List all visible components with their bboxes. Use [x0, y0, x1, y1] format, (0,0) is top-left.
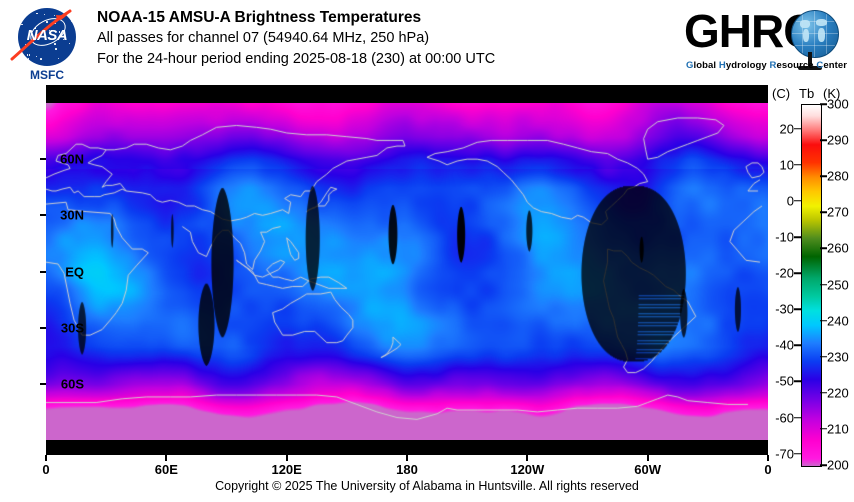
colorbar-kelvin-tick [820, 392, 827, 394]
x-axis-tick [406, 455, 408, 461]
colorbar-celsius-tick [794, 308, 801, 310]
y-axis-label: 60N [60, 152, 84, 167]
colorbar-celsius-label: -10 [775, 230, 794, 245]
colorbar-kelvin-tick [820, 320, 827, 322]
colorbar-celsius-tick [794, 345, 801, 347]
map-plot-area[interactable] [46, 85, 768, 455]
x-axis-tick [647, 455, 649, 461]
colorbar-kelvin-label: 200 [827, 458, 849, 473]
y-axis-tick [40, 214, 46, 216]
colorbar-kelvin-label: 210 [827, 421, 849, 436]
colorbar-celsius-tick [794, 381, 801, 383]
ghrc-tagline: Global Hydrology Resource Center [686, 60, 847, 71]
y-axis-label: EQ [65, 264, 84, 279]
x-axis-label: 120E [271, 462, 301, 477]
y-axis-label: 30N [60, 208, 84, 223]
colorbar-kelvin-tick [820, 212, 827, 214]
ghrc-logo: GHRC Global Hydrology Resource Center [684, 6, 850, 78]
colorbar-celsius-label: -20 [775, 266, 794, 281]
colorbar-kelvin-label: 300 [827, 97, 849, 112]
colorbar-celsius-label: -50 [775, 374, 794, 389]
colorbar-kelvin-tick [820, 356, 827, 358]
y-axis-tick [40, 158, 46, 160]
colorbar-kelvin-label: 250 [827, 277, 849, 292]
x-axis-tick [767, 455, 769, 461]
colorbar-celsius-header: (C) [772, 86, 790, 101]
colorbar-celsius-label: -70 [775, 446, 794, 461]
colorbar-gradient [802, 105, 821, 466]
x-axis-tick [45, 455, 47, 461]
colorbar-title: Tb [799, 86, 814, 101]
page-title: NOAA-15 AMSU-A Brightness Temperatures [97, 8, 495, 28]
brightness-temperature-map[interactable] [46, 103, 768, 440]
colorbar-kelvin-label: 230 [827, 349, 849, 364]
map-raster [46, 103, 768, 440]
y-axis-tick [40, 271, 46, 273]
colorbar-kelvin-tick [820, 284, 827, 286]
header-block: NOAA-15 AMSU-A Brightness Temperatures A… [97, 8, 495, 70]
channel-subtitle: All passes for channel 07 (54940.64 MHz,… [97, 28, 495, 49]
colorbar[interactable] [801, 104, 822, 467]
colorbar-celsius-tick [794, 236, 801, 238]
colorbar-kelvin-label: 270 [827, 205, 849, 220]
colorbar-celsius-tick [794, 128, 801, 130]
x-axis-label: 180 [396, 462, 418, 477]
colorbar-kelvin-label: 290 [827, 133, 849, 148]
nasa-logo: NASA MSFC [10, 6, 84, 84]
x-axis-label: 60E [155, 462, 178, 477]
colorbar-celsius-label: 20 [780, 121, 794, 136]
colorbar-celsius-tick [794, 200, 801, 202]
colorbar-celsius-tick [794, 453, 801, 455]
colorbar-kelvin-tick [820, 175, 827, 177]
colorbar-kelvin-tick [820, 464, 827, 466]
nasa-wordmark: NASA [18, 27, 76, 44]
colorbar-celsius-tick [794, 417, 801, 419]
x-axis-label: 0 [42, 462, 49, 477]
x-axis-tick [165, 455, 167, 461]
y-axis-label: 60S [61, 376, 84, 391]
colorbar-celsius-label: -40 [775, 338, 794, 353]
globe-icon [791, 10, 839, 58]
colorbar-kelvin-tick [820, 103, 827, 105]
y-axis-tick [40, 383, 46, 385]
colorbar-kelvin-label: 280 [827, 169, 849, 184]
x-axis-label: 0 [764, 462, 771, 477]
x-axis-label: 60W [634, 462, 661, 477]
x-axis-tick [286, 455, 288, 461]
y-axis-tick [40, 327, 46, 329]
colorbar-celsius-label: -30 [775, 302, 794, 317]
x-axis-label: 120W [510, 462, 544, 477]
nasa-center-label: MSFC [10, 68, 84, 82]
colorbar-kelvin-tick [820, 248, 827, 250]
colorbar-kelvin-tick [820, 428, 827, 430]
copyright-text: Copyright © 2025 The University of Alaba… [0, 479, 854, 493]
colorbar-kelvin-tick [820, 139, 827, 141]
colorbar-celsius-label: 0 [787, 193, 794, 208]
colorbar-celsius-label: 10 [780, 157, 794, 172]
colorbar-kelvin-label: 220 [827, 385, 849, 400]
colorbar-celsius-tick [794, 164, 801, 166]
period-subtitle: For the 24-hour period ending 2025-08-18… [97, 49, 495, 70]
y-axis-label: 30S [61, 320, 84, 335]
colorbar-kelvin-label: 240 [827, 313, 849, 328]
colorbar-kelvin-label: 260 [827, 241, 849, 256]
colorbar-celsius-label: -60 [775, 410, 794, 425]
colorbar-celsius-tick [794, 272, 801, 274]
x-axis-tick [526, 455, 528, 461]
